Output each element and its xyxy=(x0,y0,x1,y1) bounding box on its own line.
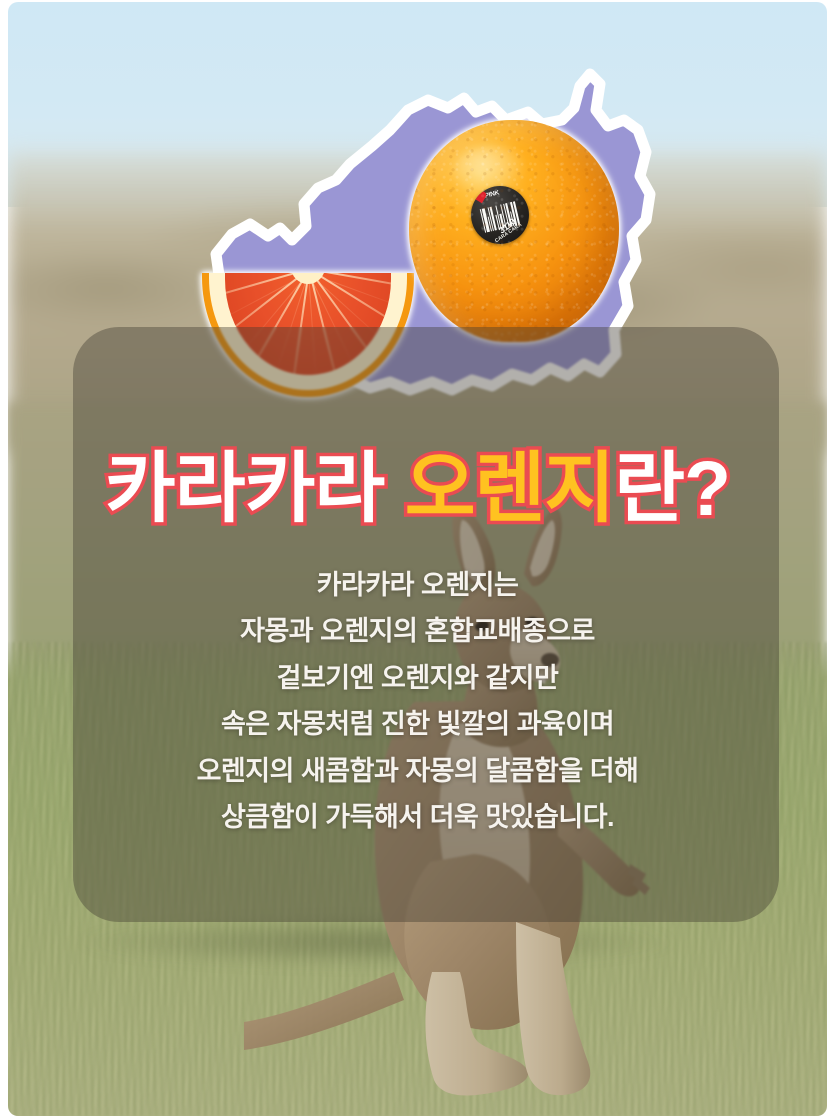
title-part-karakara: 카라카라 xyxy=(105,446,384,532)
orange-highlight xyxy=(453,146,527,196)
sticker-brand-label: PINK xyxy=(484,191,500,201)
sticker-brand-group: PINK xyxy=(476,190,500,202)
title-part-orange: 오렌지 xyxy=(405,446,615,532)
description-line: 자몽과 오렌지의 혼합교배종으로 xyxy=(0,608,835,654)
description-block: 카라카라 오렌지는 자몽과 오렌지의 혼합교배종으로 겉보기엔 오렌지와 같지만… xyxy=(0,562,835,841)
fruit-produce-sticker: PINK 3110 CARA CARA xyxy=(471,186,529,244)
description-line: 상큼함이 가득해서 더욱 맛있습니다. xyxy=(0,794,835,840)
description-line: 오렌지의 새콤함과 자몽의 달콤함을 더해 xyxy=(0,748,835,794)
description-line: 카라카라 오렌지는 xyxy=(0,562,835,608)
title-space xyxy=(384,446,404,532)
title-part-suffix: 란? xyxy=(614,446,730,532)
heart-icon xyxy=(476,194,486,204)
barcode-icon xyxy=(480,201,520,232)
description-line: 속은 자몽처럼 진한 빛깔의 과육이며 xyxy=(0,701,835,747)
cara-cara-orange-whole: PINK 3110 CARA CARA xyxy=(409,120,619,342)
page-title: 카라카라 오렌지란? xyxy=(0,451,835,528)
sticker-variety-label: CARA CARA xyxy=(494,222,523,244)
sticker-code-label: 3110 xyxy=(497,216,518,235)
description-line: 겉보기엔 오렌지와 같지만 xyxy=(0,655,835,701)
poster-root: PINK 3110 CARA CARA xyxy=(0,0,835,1118)
background-photo: PINK 3110 CARA CARA xyxy=(8,2,827,1116)
